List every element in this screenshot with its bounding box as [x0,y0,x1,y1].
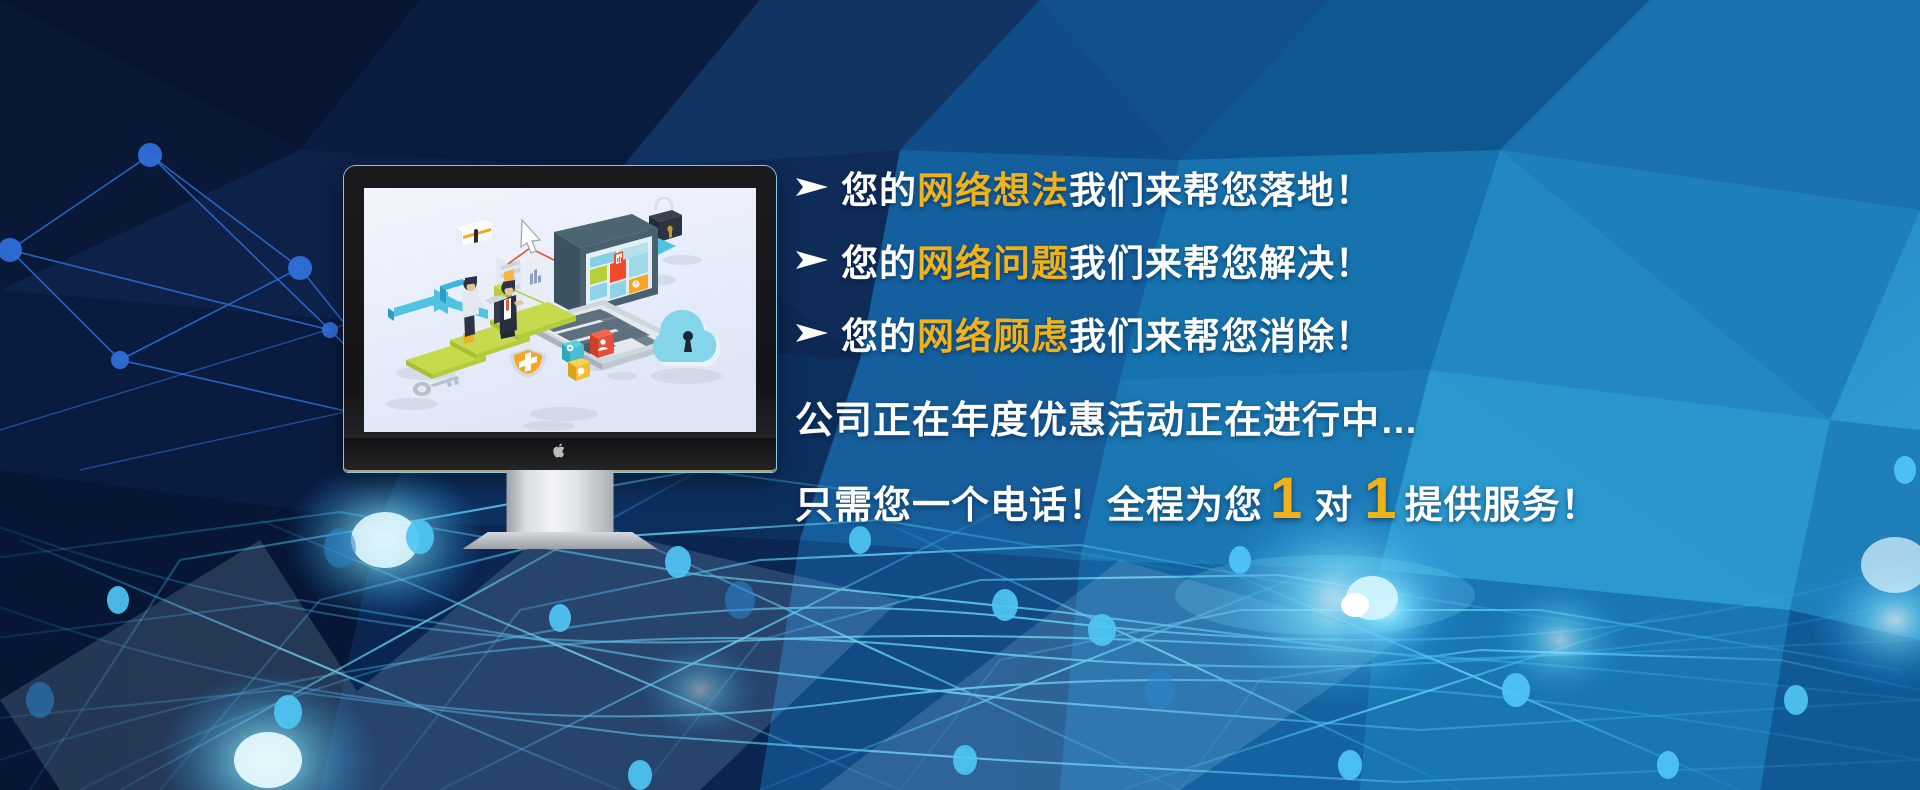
promo-banner: 您的网络想法我们来帮您落地！ 您的网络问题我们来帮您解决！ 您的网络顾虑我们来帮… [0,0,1920,790]
cta-number-two: 1 [1357,476,1404,522]
bullet-text-3: 您的网络顾虑我们来帮您消除！ [841,306,1373,360]
cta-separator: 对 [1310,474,1357,529]
bullet-prefix-2: 您的 [841,243,917,284]
bullet-highlight-2: 网络问题 [917,243,1069,284]
monitor-screen [364,188,756,432]
imac-monitor [344,166,776,546]
cta-line: 只需您一个电话！全程为您 1 对 1 提供服务！ [795,474,1795,529]
bullet-suffix-3: 我们来帮您消除！ [1069,316,1373,357]
arrow-bullet-icon [795,322,841,344]
cta-number-one: 1 [1263,476,1310,522]
monitor-stand-neck [507,470,614,536]
cta-lead: 只需您一个电话！全程为您 [795,474,1263,529]
monitor-stand-base [463,532,658,549]
bullet-suffix-2: 我们来帮您解决！ [1069,243,1373,284]
bullet-prefix-1: 您的 [841,170,917,211]
isometric-network-security-illustration [364,188,756,432]
bullet-highlight-3: 网络顾虑 [917,316,1069,357]
bullet-item-1: 您的网络想法我们来帮您落地！ [795,150,1795,223]
marketing-copy: 您的网络想法我们来帮您落地！ 您的网络问题我们来帮您解决！ 您的网络顾虑我们来帮… [795,150,1795,529]
arrow-bullet-icon [795,176,841,198]
promo-line: 公司正在年度优惠活动正在进行中… [795,389,1795,444]
bullet-suffix-1: 我们来帮您落地！ [1069,170,1373,211]
bullet-text-1: 您的网络想法我们来帮您落地！ [841,160,1373,214]
monitor-bezel [344,166,776,472]
apple-logo [553,442,568,459]
bullet-highlight-1: 网络想法 [917,170,1069,211]
bullet-prefix-3: 您的 [841,316,917,357]
cta-tail: 提供服务！ [1405,474,1600,529]
bullet-item-2: 您的网络问题我们来帮您解决！ [795,223,1795,296]
arrow-bullet-icon [795,249,841,271]
bullet-item-3: 您的网络顾虑我们来帮您消除！ [795,296,1795,369]
bullet-text-2: 您的网络问题我们来帮您解决！ [841,233,1373,287]
